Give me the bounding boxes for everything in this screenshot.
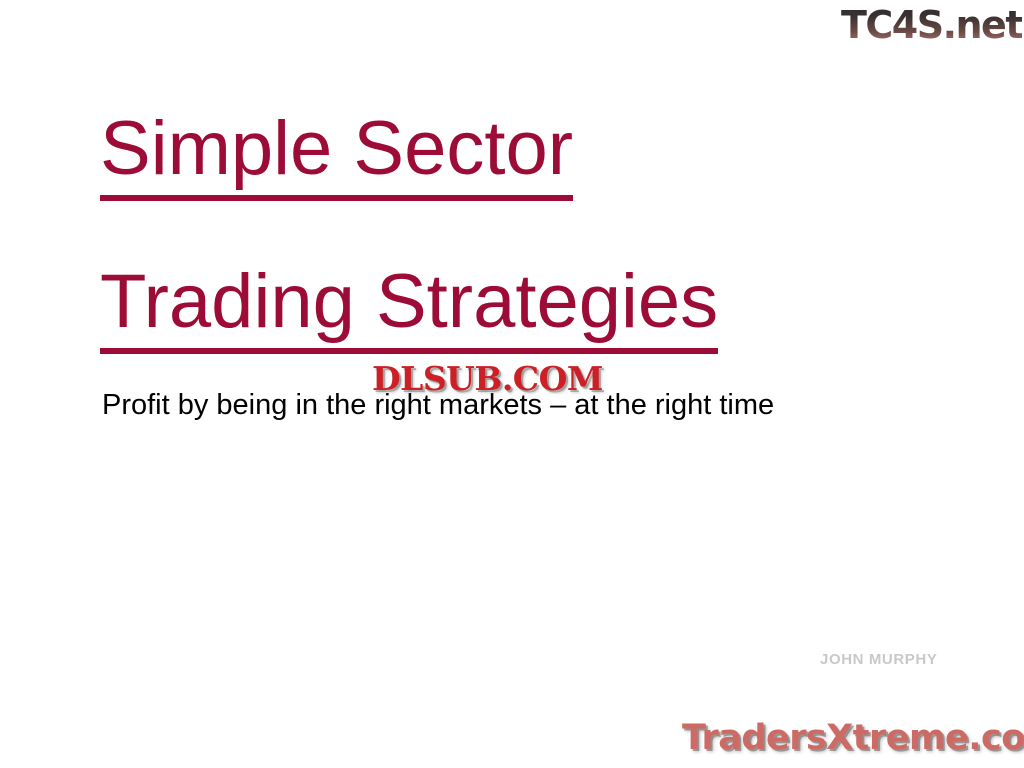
title-slide: TC4S.net Simple Sector Trading Strategie… — [0, 0, 1024, 768]
page-title: Simple Sector Trading Strategies — [100, 104, 960, 354]
title-line-2-text: Trading Strategies — [100, 260, 718, 354]
author-name: JOHN MURPHY — [820, 650, 937, 670]
tc4s-site-logo[interactable]: TC4S.net — [830, 2, 1022, 50]
dlsub-watermark: DLSUB.COM — [372, 361, 603, 397]
title-line-1: Simple Sector — [100, 104, 960, 201]
title-line-1-text: Simple Sector — [100, 107, 573, 201]
tradersxtreme-banner-text: TradersXtreme.com — [682, 714, 1018, 762]
tradersxtreme-banner[interactable]: TradersXtreme.com — [682, 714, 1018, 762]
title-line-2: Trading Strategies — [100, 257, 960, 354]
